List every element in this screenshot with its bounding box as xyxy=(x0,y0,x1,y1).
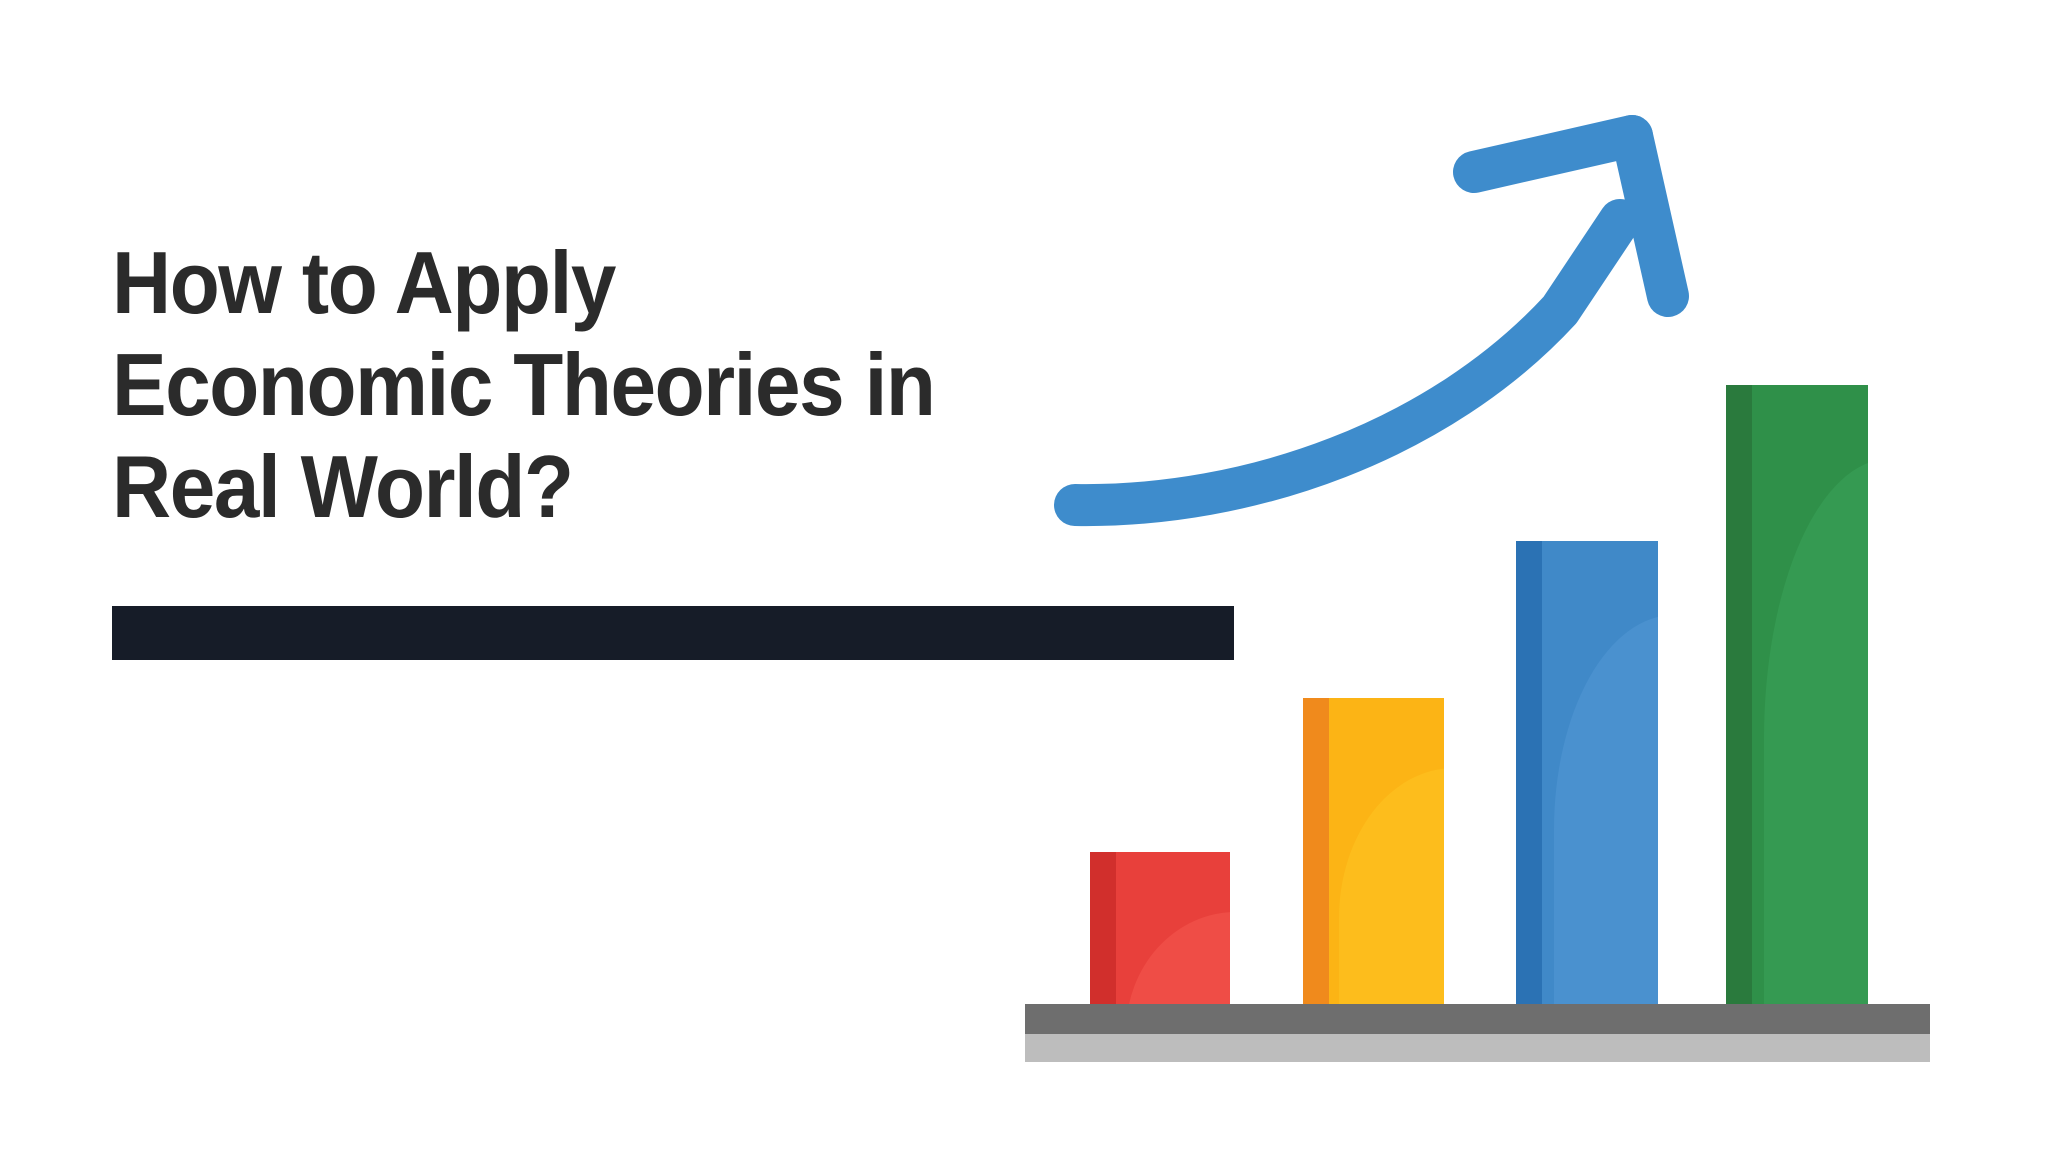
bar-1-gloss xyxy=(1126,912,1230,1005)
bar-4-gloss xyxy=(1764,459,1868,1005)
bar-1-red xyxy=(1090,852,1230,1005)
chart-platform-bottom xyxy=(1025,1034,1930,1062)
bar-4-green xyxy=(1726,385,1868,1005)
bar-2-orange xyxy=(1303,698,1444,1005)
slide-canvas: How to Apply Economic Theories in Real W… xyxy=(0,0,2048,1152)
bar-2-left-edge xyxy=(1303,698,1329,1005)
bar-4-left-edge xyxy=(1726,385,1752,1005)
bar-3-blue xyxy=(1516,541,1658,1005)
bar-3-gloss xyxy=(1554,615,1658,1005)
bar-2-gloss xyxy=(1339,768,1444,1005)
chart-platform-top xyxy=(1025,1004,1930,1034)
bar-chart xyxy=(0,0,2048,1152)
bar-1-left-edge xyxy=(1090,852,1116,1005)
bar-3-left-edge xyxy=(1516,541,1542,1005)
